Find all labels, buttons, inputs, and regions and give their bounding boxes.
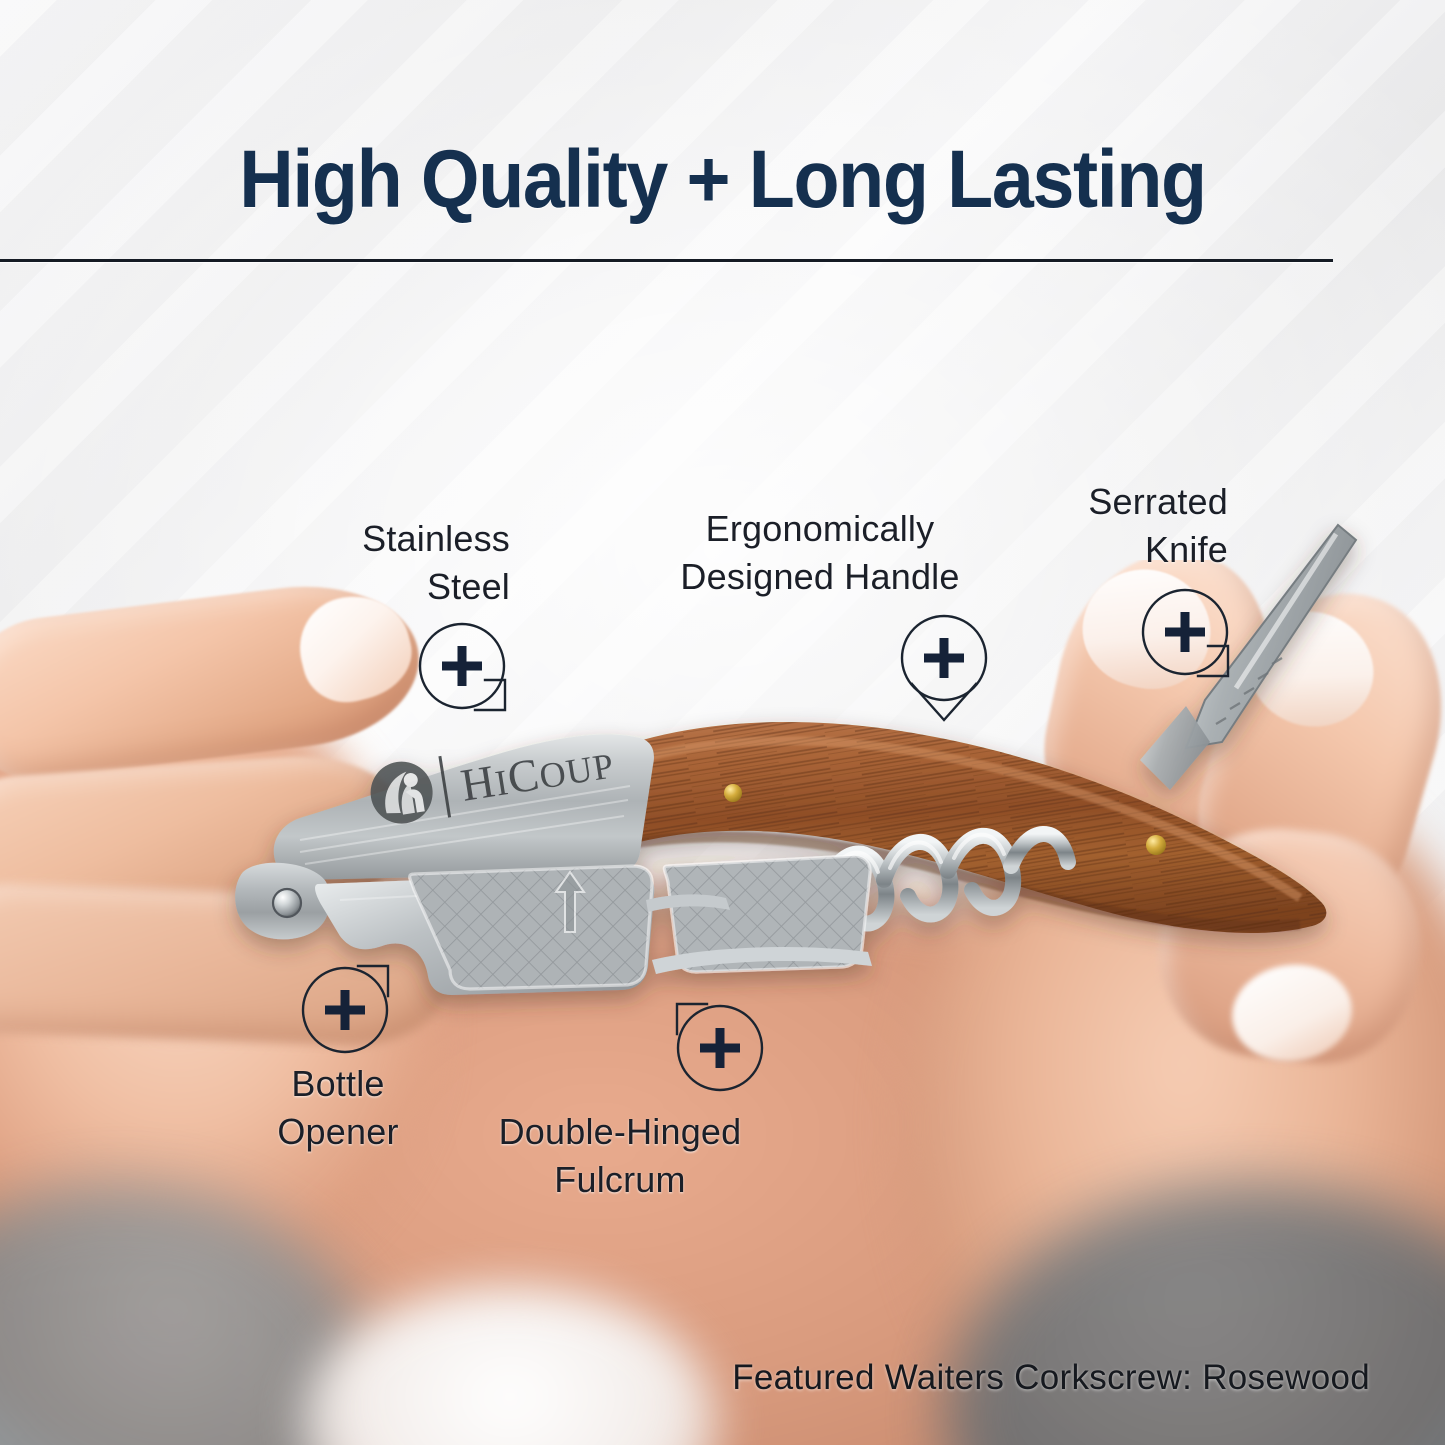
plus-circle-bracket-icon: [1140, 588, 1232, 680]
page-title: High Quality + Long Lasting: [58, 133, 1387, 227]
plus-map-pin-icon: [898, 612, 990, 724]
featured-product-caption: Featured Waiters Corkscrew: Rosewood: [732, 1358, 1370, 1398]
callout-marker-bottle-opener[interactable]: [300, 962, 392, 1054]
title-divider: [0, 259, 1333, 262]
callout-marker-ergonomic-handle[interactable]: [898, 612, 990, 724]
plus-circle-bracket-icon: [417, 622, 509, 714]
plus-circle-bracket-icon: [673, 1000, 765, 1092]
infographic-canvas: HICOUP High Quality + Long Lasting Stain…: [0, 0, 1445, 1445]
callout-label-stainless-steel: Stainless Steel: [272, 515, 510, 610]
callout-marker-double-hinged-fulcrum[interactable]: [673, 1000, 765, 1092]
callout-marker-stainless-steel[interactable]: [417, 622, 509, 714]
callout-label-ergonomic-handle: Ergonomically Designed Handle: [640, 505, 1000, 600]
callout-label-serrated-knife: Serrated Knife: [1000, 478, 1228, 573]
callout-label-bottle-opener: Bottle Opener: [218, 1060, 458, 1155]
callout-label-double-hinged-fulcrum: Double-Hinged Fulcrum: [440, 1108, 800, 1203]
plus-circle-bracket-icon: [300, 962, 392, 1054]
callout-marker-serrated-knife[interactable]: [1140, 588, 1232, 680]
